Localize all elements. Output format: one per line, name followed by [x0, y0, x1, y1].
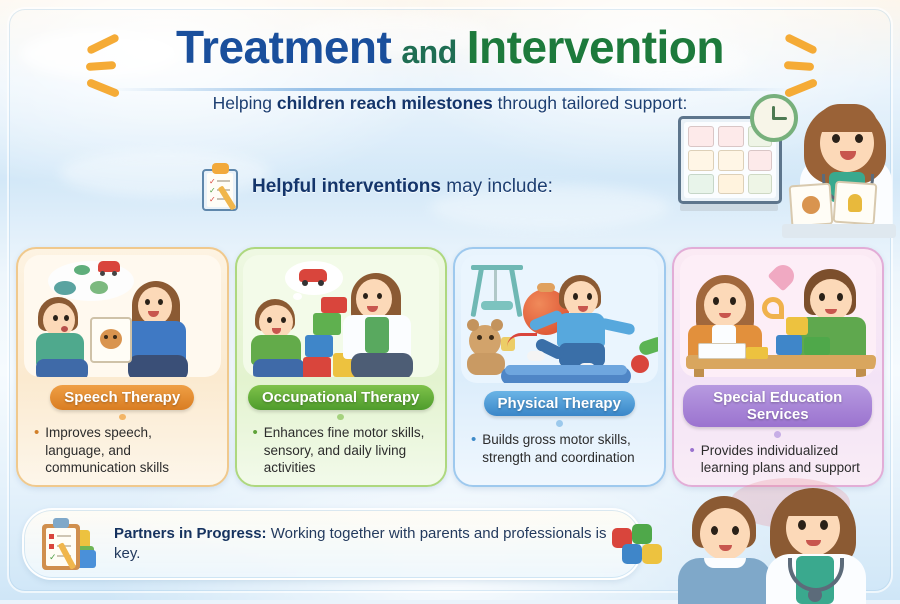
- title-conjunction: and: [401, 34, 456, 70]
- bullet-marker: •: [34, 424, 39, 477]
- subtitle-emphasis: children reach milestones: [277, 93, 493, 113]
- subtitle-lead: Helping: [213, 93, 277, 113]
- card-bullet-speech-therapy: • Improves speech, language, and communi…: [24, 422, 221, 477]
- footer-emphasis: Partners in Progress:: [114, 525, 267, 542]
- interventions-heading: Helpful interventions may include:: [252, 176, 553, 198]
- card-bullet-special-education-services: • Provides individualized learning plans…: [680, 440, 877, 477]
- intervention-cards: Speech Therapy • Improves speech, langua…: [16, 247, 884, 487]
- clipboard-checklist-icon: ✓ ✓ ✓: [200, 163, 242, 211]
- card-special-education-services[interactable]: Special Education Services • Provides in…: [672, 247, 885, 487]
- occupational-therapy-illustration: [243, 255, 440, 377]
- title-part-intervention: Intervention: [467, 21, 724, 73]
- bullet-text: Enhances fine motor skills, sensory, and…: [264, 424, 431, 477]
- card-label-physical-therapy: Physical Therapy: [484, 391, 635, 416]
- card-occupational-therapy[interactable]: Occupational Therapy • Enhances fine mot…: [235, 247, 448, 487]
- clipboard-blocks-icon: ✓: [40, 516, 102, 572]
- card-label-speech-therapy: Speech Therapy: [50, 385, 194, 410]
- card-physical-therapy[interactable]: Physical Therapy • Builds gross motor sk…: [453, 247, 666, 487]
- card-dot: [774, 431, 781, 438]
- subtitle-tail: through tailored support:: [493, 93, 688, 113]
- card-speech-therapy[interactable]: Speech Therapy • Improves speech, langua…: [16, 247, 229, 487]
- physical-therapy-illustration: [461, 255, 658, 383]
- bullet-text: Improves speech, language, and communica…: [45, 424, 212, 477]
- bullet-text: Builds gross motor skills, strength and …: [482, 431, 649, 466]
- header-illustration-therapist: [672, 88, 900, 238]
- card-label-occupational-therapy: Occupational Therapy: [248, 385, 434, 410]
- card-dot: [119, 414, 126, 421]
- card-bullet-physical-therapy: • Builds gross motor skills, strength an…: [461, 429, 658, 466]
- special-education-illustration: [680, 255, 877, 377]
- footer-illustration-boy-and-doctor: [670, 488, 900, 600]
- interventions-heading-emphasis: Helpful interventions: [252, 176, 441, 197]
- interventions-heading-row: ✓ ✓ ✓ Helpful interventions may include:: [200, 163, 553, 211]
- title-part-treatment: Treatment: [176, 21, 391, 73]
- bullet-text: Provides individualized learning plans a…: [701, 442, 868, 477]
- card-bullet-occupational-therapy: • Enhances fine motor skills, sensory, a…: [243, 422, 440, 477]
- page-title: TreatmentandIntervention: [0, 24, 900, 70]
- infographic-poster: TreatmentandIntervention Helping childre…: [0, 0, 900, 600]
- bullet-marker: •: [690, 442, 695, 477]
- footer-text: Partners in Progress: Working together w…: [114, 524, 624, 565]
- bullet-marker: •: [253, 424, 258, 477]
- puzzle-pieces-icon: [612, 524, 672, 574]
- card-dot: [556, 420, 563, 427]
- card-dot: [337, 414, 344, 421]
- footer-banner: ✓ Partners in Progress: Working together…: [22, 508, 642, 580]
- card-label-special-education-services: Special Education Services: [683, 385, 872, 427]
- bullet-marker: •: [471, 431, 476, 466]
- speech-therapy-illustration: [24, 255, 221, 377]
- interventions-heading-tail: may include:: [441, 176, 553, 197]
